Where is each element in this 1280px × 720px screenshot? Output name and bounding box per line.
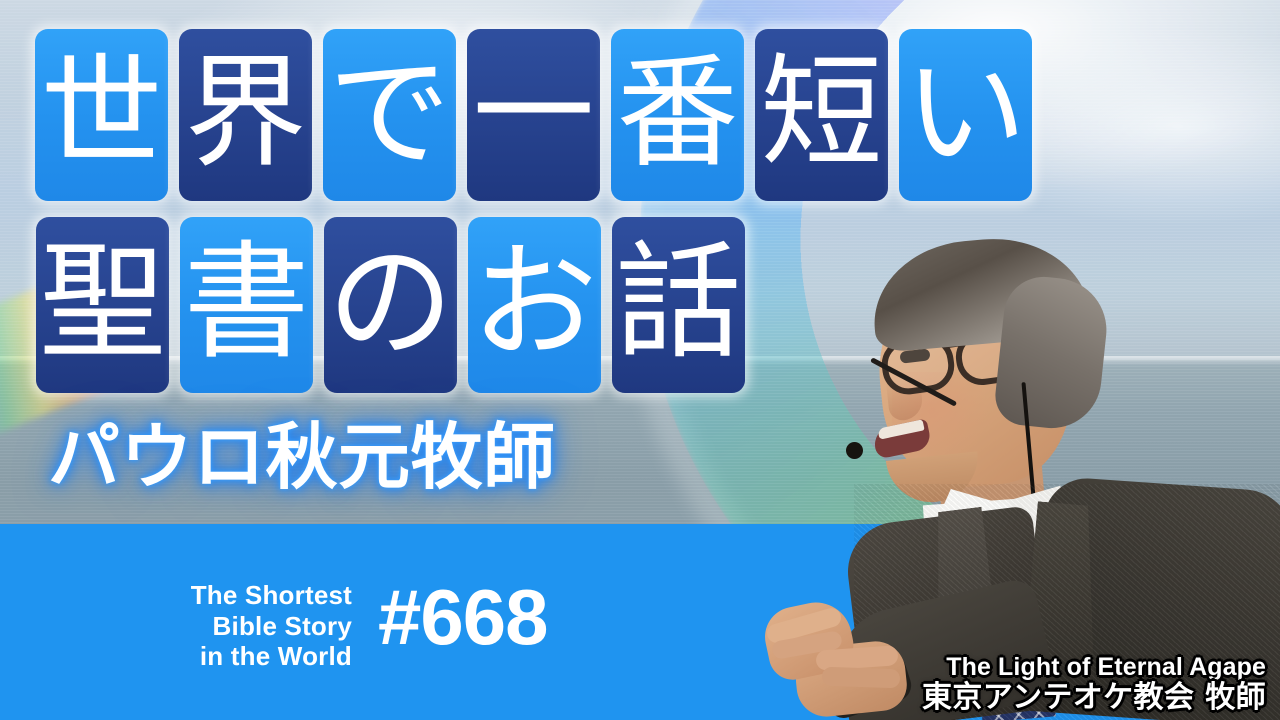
title-tile-char: い bbox=[905, 52, 1027, 174]
credits-japanese: 東京アンテオケ教会 牧師 bbox=[922, 682, 1266, 714]
title-tile: 話 bbox=[612, 217, 745, 393]
title-tile-char: 界 bbox=[185, 52, 307, 174]
title-tile: 短 bbox=[755, 29, 888, 201]
credits-block: The Light of Eternal Agape 東京アンテオケ教会 牧師 bbox=[922, 654, 1266, 714]
title-line-2: 聖 書 の お 話 bbox=[36, 217, 745, 393]
title-tile-char: 一 bbox=[473, 52, 595, 174]
series-title-line-2: Bible Story bbox=[0, 611, 352, 642]
title-tile-char: で bbox=[329, 52, 451, 174]
title-tile-char: 短 bbox=[761, 52, 883, 174]
title-tile-char: 番 bbox=[617, 52, 739, 174]
title-tile: 界 bbox=[179, 29, 312, 201]
title-tile: 書 bbox=[180, 217, 313, 393]
title-line-1: 世 界 で 一 番 短 い bbox=[35, 29, 1032, 201]
series-title-line-3: in the World bbox=[0, 641, 352, 672]
title-tile: の bbox=[324, 217, 457, 393]
speaker-portrait bbox=[742, 232, 1280, 720]
series-title-en: The Shortest Bible Story in the World bbox=[0, 580, 352, 672]
title-tile: 聖 bbox=[36, 217, 169, 393]
title-tile: 世 bbox=[35, 29, 168, 201]
thumbnail-canvas: 世 界 で 一 番 短 い 聖 書 の お 話 パウロ秋元牧師 The Shor… bbox=[0, 0, 1280, 720]
title-tile-char: 話 bbox=[616, 240, 742, 366]
title-tile: 一 bbox=[467, 29, 600, 201]
episode-number: #668 bbox=[378, 578, 548, 656]
hair-side bbox=[992, 273, 1111, 433]
microphone-capsule bbox=[846, 442, 863, 459]
title-tile: 番 bbox=[611, 29, 744, 201]
title-tile: お bbox=[468, 217, 601, 393]
title-tile: で bbox=[323, 29, 456, 201]
presenter-name: パウロ秋元牧師 bbox=[48, 421, 556, 493]
credits-english: The Light of Eternal Agape bbox=[922, 654, 1266, 681]
series-title-line-1: The Shortest bbox=[0, 580, 352, 611]
title-tile-char: 世 bbox=[41, 52, 163, 174]
finger bbox=[822, 667, 901, 689]
title-tile-char: お bbox=[472, 240, 598, 366]
title-tile-char: の bbox=[328, 240, 454, 366]
title-tile: い bbox=[899, 29, 1032, 201]
title-tile-char: 聖 bbox=[40, 240, 166, 366]
title-tile-char: 書 bbox=[184, 240, 310, 366]
